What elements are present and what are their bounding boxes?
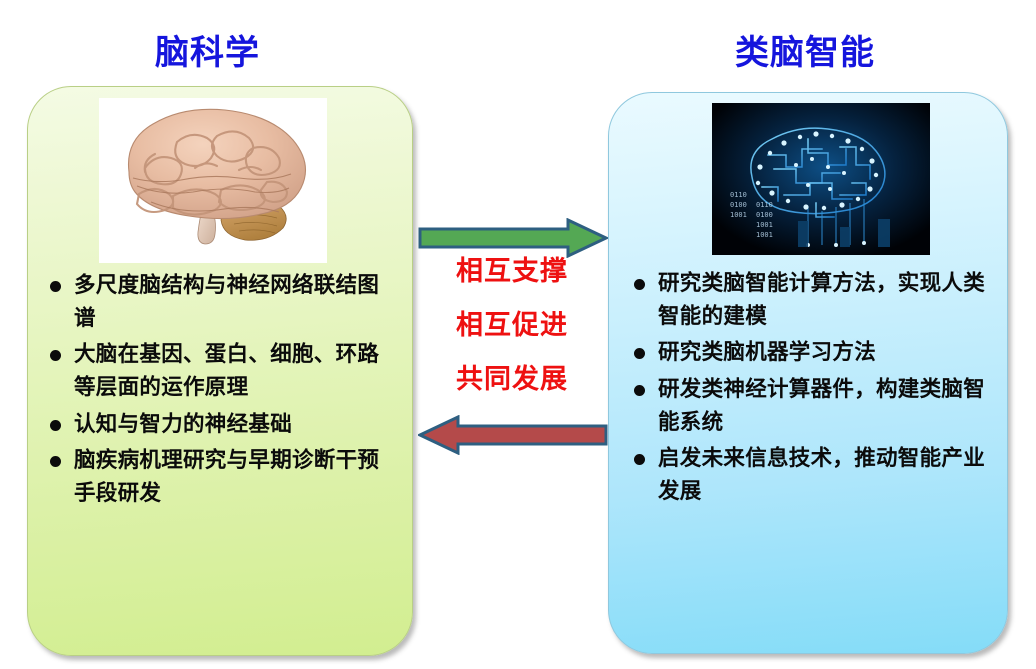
svg-text:1001: 1001 <box>730 211 747 219</box>
slide-canvas: 脑科学 类脑智能 <box>0 0 1036 669</box>
page-title-brain-inspired-intelligence: 类脑智能 <box>735 36 875 70</box>
brain-photo-image <box>99 98 327 263</box>
svg-text:1001: 1001 <box>756 221 773 229</box>
relationship-line-3: 共同发展 <box>414 366 610 393</box>
green-right-arrow-icon <box>418 218 608 258</box>
relationship-text-block: 相互支撑 相互促进 共同发展 <box>414 258 610 393</box>
relationship-line-2: 相互促进 <box>414 312 610 339</box>
relationship-line-1: 相互支撑 <box>414 258 610 285</box>
list-item: 研究类脑智能计算方法，实现人类智能的建模 <box>630 268 998 333</box>
list-item: 多尺度脑结构与神经网络联结图谱 <box>46 270 396 335</box>
red-left-arrow-icon <box>418 415 608 455</box>
list-item: 研究类脑机器学习方法 <box>630 337 998 370</box>
page-title-brain-science: 脑科学 <box>155 36 260 70</box>
digital-brain-image: 0110 0100 1001 0110 0100 1001 1001 <box>712 103 930 255</box>
bullet-list-brain-science: 多尺度脑结构与神经网络联结图谱 大脑在基因、蛋白、细胞、环路等层面的运作原理 认… <box>46 270 396 515</box>
list-item: 脑疾病机理研究与早期诊断干预手段研发 <box>46 445 396 510</box>
list-item: 研发类神经计算器件，构建类脑智能系统 <box>630 374 998 439</box>
list-item: 启发未来信息技术，推动智能产业发展 <box>630 443 998 508</box>
svg-text:0110: 0110 <box>756 201 773 209</box>
bullet-list-brain-inspired: 研究类脑智能计算方法，实现人类智能的建模 研究类脑机器学习方法 研发类神经计算器… <box>630 268 998 513</box>
svg-text:0100: 0100 <box>756 211 773 219</box>
svg-text:1001: 1001 <box>756 231 773 239</box>
center-relationship-group: 相互支撑 相互促进 共同发展 <box>414 210 610 460</box>
svg-text:0110: 0110 <box>730 191 747 199</box>
list-item: 大脑在基因、蛋白、细胞、环路等层面的运作原理 <box>46 339 396 404</box>
svg-text:0100: 0100 <box>730 201 747 209</box>
list-item: 认知与智力的神经基础 <box>46 409 396 442</box>
